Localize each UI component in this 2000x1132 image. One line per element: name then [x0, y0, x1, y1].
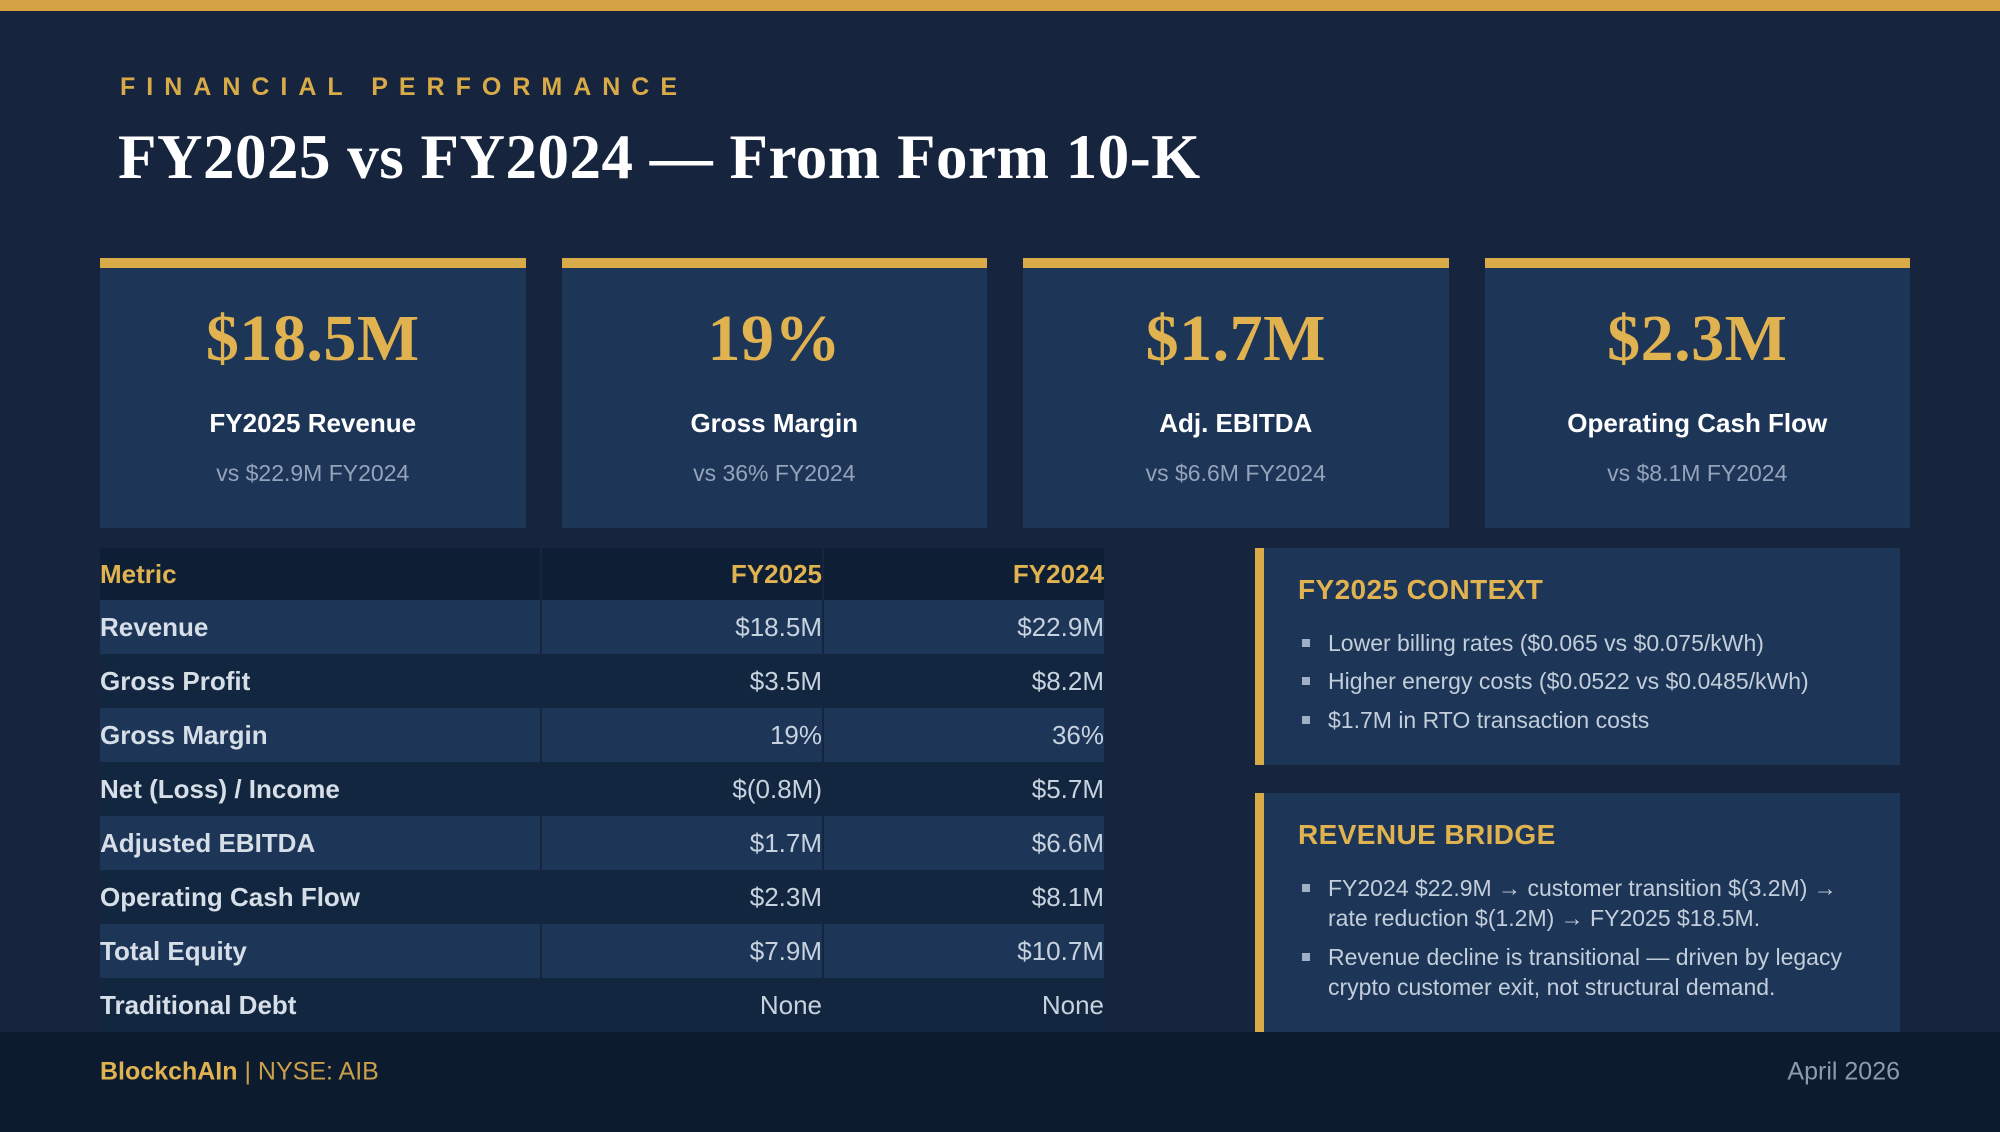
- kpi-card-revenue: $18.5M FY2025 Revenue vs $22.9M FY2024: [100, 258, 526, 528]
- cell-metric: Gross Profit: [100, 654, 541, 708]
- cell-fy2024: $5.7M: [823, 762, 1104, 816]
- list-item: Revenue decline is transitional — driven…: [1298, 942, 1870, 1003]
- cell-fy2024: $10.7M: [823, 924, 1104, 978]
- panel-bullet-list: Lower billing rates ($0.065 vs $0.075/kW…: [1298, 628, 1870, 735]
- cell-metric: Total Equity: [100, 924, 541, 978]
- table-row: Revenue $18.5M $22.9M: [100, 600, 1104, 654]
- kpi-card-gross-margin: 19% Gross Margin vs 36% FY2024: [562, 258, 988, 528]
- list-item: Lower billing rates ($0.065 vs $0.075/kW…: [1298, 628, 1870, 658]
- panel-title: REVENUE BRIDGE: [1298, 819, 1870, 851]
- footer-brand-group: BlockchAIn | NYSE: AIB: [100, 1058, 379, 1087]
- cell-metric: Gross Margin: [100, 708, 541, 762]
- list-item: Higher energy costs ($0.0522 vs $0.0485/…: [1298, 666, 1870, 696]
- cell-fy2025: $3.5M: [541, 654, 823, 708]
- list-item: FY2024 $22.9M → customer transition $(3.…: [1298, 873, 1870, 934]
- slide: FINANCIAL PERFORMANCE FY2025 vs FY2024 —…: [0, 0, 2000, 1132]
- kpi-card-adj-ebitda: $1.7M Adj. EBITDA vs $6.6M FY2024: [1023, 258, 1449, 528]
- column-header-fy2024: FY2024: [823, 548, 1104, 600]
- cell-fy2024: None: [823, 978, 1104, 1032]
- kpi-value: $1.7M: [1023, 306, 1449, 372]
- table-row: Gross Margin 19% 36%: [100, 708, 1104, 762]
- cell-metric: Operating Cash Flow: [100, 870, 541, 924]
- cell-fy2025: $2.3M: [541, 870, 823, 924]
- kpi-label: Adj. EBITDA: [1023, 408, 1449, 439]
- panel-fy2025-context: FY2025 CONTEXT Lower billing rates ($0.0…: [1255, 548, 1900, 765]
- kpi-card-row: $18.5M FY2025 Revenue vs $22.9M FY2024 1…: [100, 258, 1910, 528]
- cell-metric: Adjusted EBITDA: [100, 816, 541, 870]
- cell-metric: Net (Loss) / Income: [100, 762, 541, 816]
- brand-name: BlockchAIn: [100, 1058, 238, 1086]
- cell-fy2024: $8.1M: [823, 870, 1104, 924]
- cell-fy2025: $18.5M: [541, 600, 823, 654]
- cell-fy2025: $(0.8M): [541, 762, 823, 816]
- kpi-label: Gross Margin: [562, 408, 988, 439]
- footer-date: April 2026: [1787, 1058, 1900, 1087]
- kpi-value: $2.3M: [1485, 306, 1911, 372]
- side-panels: FY2025 CONTEXT Lower billing rates ($0.0…: [1255, 548, 1900, 1033]
- kpi-value: 19%: [562, 306, 988, 372]
- table-row: Gross Profit $3.5M $8.2M: [100, 654, 1104, 708]
- panel-revenue-bridge: REVENUE BRIDGE FY2024 $22.9M → customer …: [1255, 793, 1900, 1032]
- list-item: $1.7M in RTO transaction costs: [1298, 705, 1870, 735]
- eyebrow-label: FINANCIAL PERFORMANCE: [120, 73, 688, 102]
- table-row: Net (Loss) / Income $(0.8M) $5.7M: [100, 762, 1104, 816]
- financials-table-wrapper: Metric FY2025 FY2024 Revenue $18.5M $22.…: [100, 548, 1100, 1032]
- kpi-sublabel: vs 36% FY2024: [562, 460, 988, 487]
- panel-bullet-list: FY2024 $22.9M → customer transition $(3.…: [1298, 873, 1870, 1002]
- kpi-card-operating-cash-flow: $2.3M Operating Cash Flow vs $8.1M FY202…: [1485, 258, 1911, 528]
- slide-header: FINANCIAL PERFORMANCE FY2025 vs FY2024 —…: [0, 11, 2000, 251]
- slide-body: Metric FY2025 FY2024 Revenue $18.5M $22.…: [0, 548, 2000, 1032]
- panel-title: FY2025 CONTEXT: [1298, 574, 1870, 606]
- kpi-label: FY2025 Revenue: [100, 408, 526, 439]
- table-row: Operating Cash Flow $2.3M $8.1M: [100, 870, 1104, 924]
- financials-table: Metric FY2025 FY2024 Revenue $18.5M $22.…: [100, 548, 1104, 1032]
- page-title: FY2025 vs FY2024 — From Form 10-K: [118, 121, 1201, 194]
- kpi-sublabel: vs $8.1M FY2024: [1485, 460, 1911, 487]
- cell-metric: Revenue: [100, 600, 541, 654]
- cell-fy2024: 36%: [823, 708, 1104, 762]
- table-head: Metric FY2025 FY2024: [100, 548, 1104, 600]
- cell-fy2025: 19%: [541, 708, 823, 762]
- table-header-row: Metric FY2025 FY2024: [100, 548, 1104, 600]
- table-body: Revenue $18.5M $22.9M Gross Profit $3.5M…: [100, 600, 1104, 1032]
- kpi-label: Operating Cash Flow: [1485, 408, 1911, 439]
- stock-ticker: | NYSE: AIB: [244, 1058, 378, 1086]
- kpi-value: $18.5M: [100, 306, 526, 372]
- table-row: Traditional Debt None None: [100, 978, 1104, 1032]
- cell-fy2024: $6.6M: [823, 816, 1104, 870]
- cell-fy2024: $8.2M: [823, 654, 1104, 708]
- cell-fy2024: $22.9M: [823, 600, 1104, 654]
- column-header-fy2025: FY2025: [541, 548, 823, 600]
- top-accent-bar: [0, 0, 2000, 11]
- cell-metric: Traditional Debt: [100, 978, 541, 1032]
- table-row: Total Equity $7.9M $10.7M: [100, 924, 1104, 978]
- cell-fy2025: $1.7M: [541, 816, 823, 870]
- kpi-sublabel: vs $6.6M FY2024: [1023, 460, 1449, 487]
- cell-fy2025: $7.9M: [541, 924, 823, 978]
- kpi-sublabel: vs $22.9M FY2024: [100, 460, 526, 487]
- cell-fy2025: None: [541, 978, 823, 1032]
- table-row: Adjusted EBITDA $1.7M $6.6M: [100, 816, 1104, 870]
- column-header-metric: Metric: [100, 548, 541, 600]
